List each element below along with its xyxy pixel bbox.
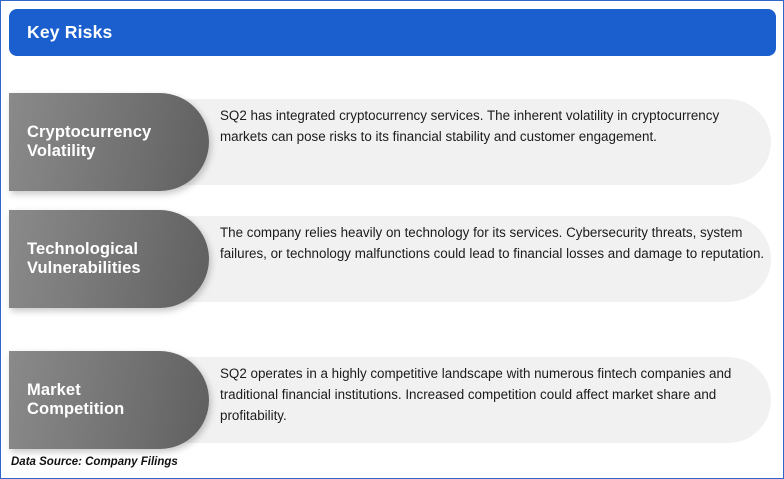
risk-label-text: Cryptocurrency Volatility [27,123,163,162]
risk-label-text: Technological Vulnerabilities [27,240,163,279]
risk-description-text: SQ2 operates in a highly competitive lan… [220,364,765,426]
data-source-note: Data Source: Company Filings [11,456,178,468]
infographic-frame: Key Risks Cryptocurrency Volatility SQ2 … [0,0,784,479]
risk-description-text: The company relies heavily on technology… [220,223,765,265]
risk-label-block: Technological Vulnerabilities [9,210,209,308]
risk-description-text: SQ2 has integrated cryptocurrency servic… [220,106,765,148]
header-bar: Key Risks [9,9,776,56]
page-title: Key Risks [27,22,112,43]
risk-label-block: Cryptocurrency Volatility [9,93,209,191]
risk-label-text: Market Competition [27,381,163,420]
risk-label-block: Market Competition [9,351,209,449]
